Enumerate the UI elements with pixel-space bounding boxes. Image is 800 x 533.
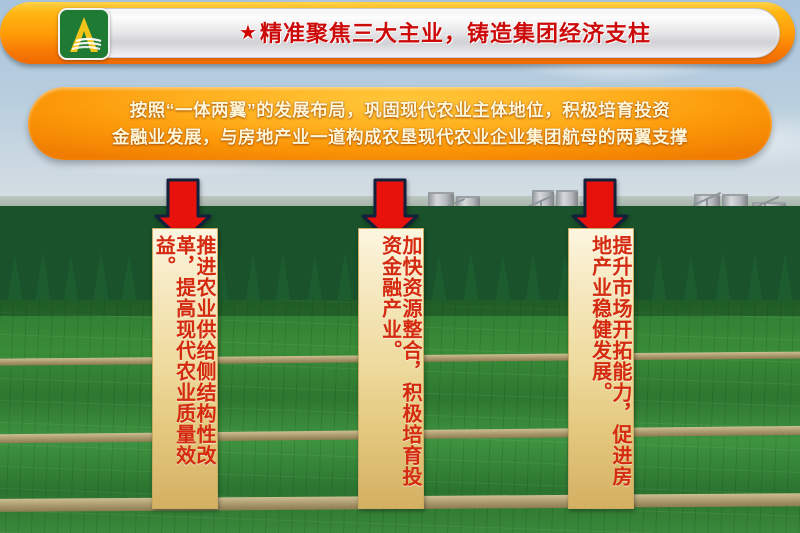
pillar-panel-3-text: 提升市场开拓能力，促进房地产业稳健发展。	[589, 235, 630, 502]
subtitle-banner: 按照“一体两翼”的发展布局，巩固现代农业主体地位，积极培育投资 金融业发展，与房…	[28, 87, 772, 160]
pillar-panel-1: 推进农业供给侧结构性改革，提高现代农业质量效益。	[152, 228, 218, 509]
page-title-text: 精准聚焦三大主业，铸造集团经济支柱	[260, 16, 651, 48]
pillar-panel-2-text: 加快资源整合，积极培育投资金融产业。	[379, 235, 420, 502]
pillar-panel-1-text: 推进农业供给侧结构性改革，提高现代农业质量效益。	[153, 235, 214, 502]
star-icon: ★	[239, 20, 258, 45]
pillar-panel-3: 提升市场开拓能力，促进房地产业稳健发展。	[568, 228, 634, 509]
subtitle-line-2: 金融业发展，与房地产业一道构成农垦现代农业企业集团航母的两翼支撑	[112, 124, 688, 150]
slide-canvas: ★精准聚焦三大主业，铸造集团经济支柱 按照“一体两翼”的发展布局，巩固现代农业主…	[0, 0, 800, 533]
pillar-panel-2: 加快资源整合，积极培育投资金融产业。	[358, 228, 424, 509]
subtitle-line-1: 按照“一体两翼”的发展布局，巩固现代农业主体地位，积极培育投资	[130, 97, 671, 123]
agriculture-group-logo-icon	[58, 8, 110, 60]
page-title: ★精准聚焦三大主业，铸造集团经济支柱	[150, 8, 740, 56]
